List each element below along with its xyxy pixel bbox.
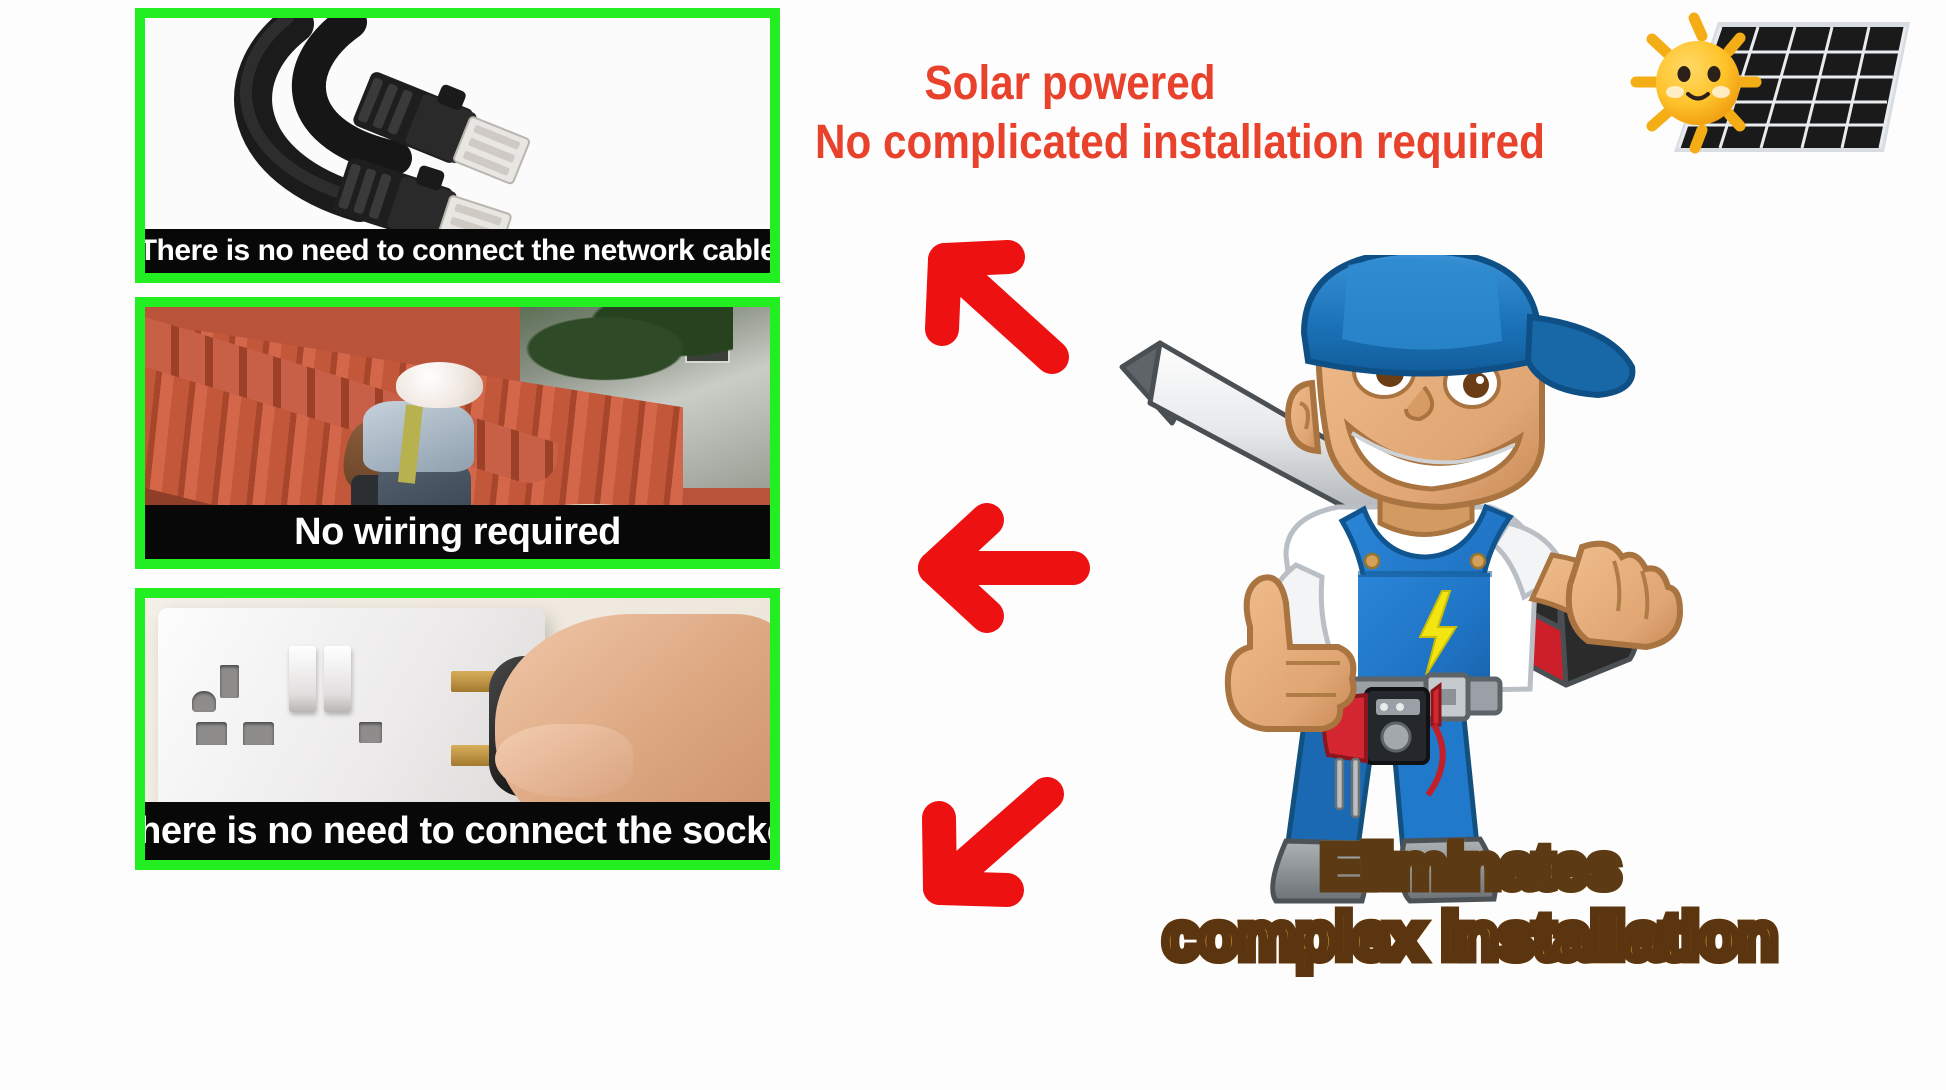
thumb <box>495 724 633 797</box>
gold-headline-line-1: Eliminates <box>1240 832 1700 903</box>
card-caption: There is no need to connect the socket <box>145 802 770 860</box>
feature-card-roof-wiring[interactable]: No wiring required <box>135 297 780 569</box>
palm-foliage <box>520 307 733 383</box>
solar-panel-sun-icon <box>1622 4 1922 162</box>
socket-live-hole-left <box>196 722 227 746</box>
gold-headline-line-2: complex installation <box>1140 898 1800 974</box>
headline-line-2: No complicated installation required <box>810 115 1549 170</box>
socket-live-hole-right <box>243 722 274 746</box>
overall-button-left <box>1365 554 1379 568</box>
hard-hat <box>396 362 483 408</box>
socket-far-hole <box>359 722 382 743</box>
arrow-down-left-icon <box>895 762 1080 922</box>
head <box>1288 255 1632 507</box>
socket-switch-2 <box>324 646 351 712</box>
infographic-canvas: There is no need to connect the network … <box>0 0 1946 1090</box>
ear <box>1288 383 1318 451</box>
gripping-hand <box>1569 544 1680 647</box>
socket-earth-hole <box>220 665 239 698</box>
headline-line-1: Solar powered <box>797 56 1343 111</box>
feature-card-power-socket[interactable]: There is no need to connect the socket <box>135 588 780 870</box>
card-caption: No wiring required <box>145 505 770 559</box>
socket-switch-1 <box>289 646 316 712</box>
socket-side-hole <box>192 691 215 712</box>
overall-button-right <box>1471 554 1485 568</box>
arrow-up-left-icon <box>900 225 1075 375</box>
arrow-left-icon <box>895 498 1095 638</box>
feature-card-network-cable[interactable]: There is no need to connect the network … <box>135 8 780 283</box>
card-caption: There is no need to connect the network … <box>145 229 770 273</box>
handyman-character <box>1090 255 1730 915</box>
